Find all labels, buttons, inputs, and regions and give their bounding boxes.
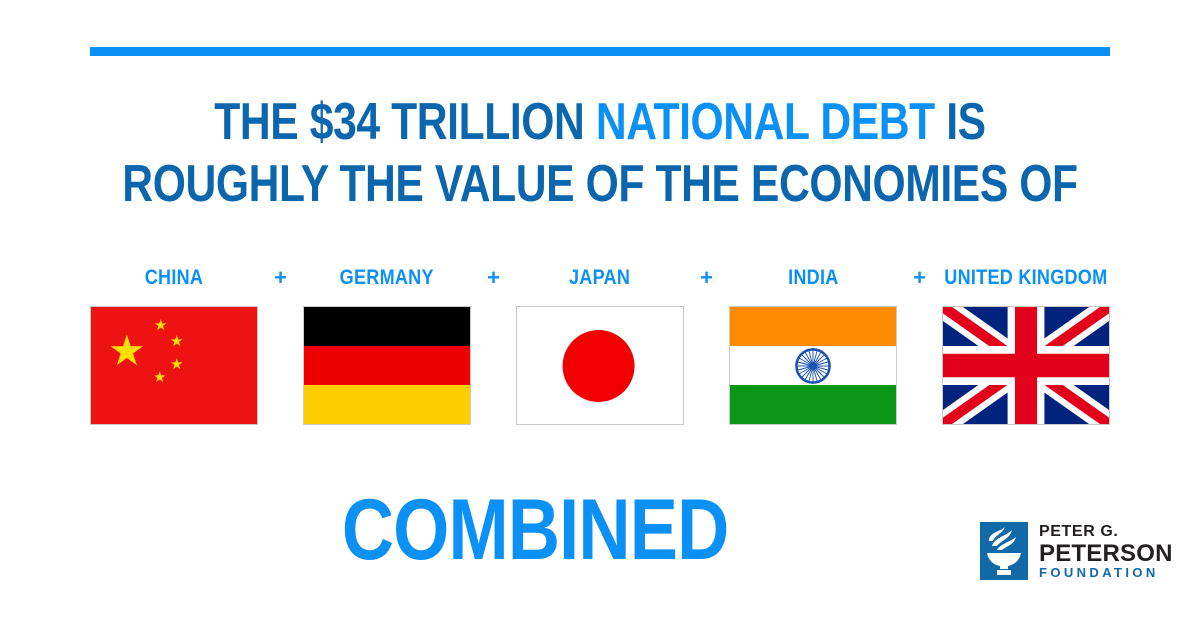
- logo-line-peter-g: PETER G.: [1039, 524, 1173, 541]
- flag-china-icon: ★ ★ ★ ★ ★: [90, 306, 258, 425]
- plus-separator-4: +: [897, 267, 942, 289]
- headline-highlight-national-debt: NATIONAL DEBT: [596, 93, 935, 151]
- flag-india-icon: [729, 306, 897, 425]
- germany-band-red: [304, 346, 470, 385]
- headline-block: THE $34 TRILLION NATIONAL DEBT IS ROUGHL…: [0, 96, 1200, 210]
- logo-line-peterson: PETERSON: [1039, 541, 1173, 566]
- logo-wordmark: PETER G. PETERSON FOUNDATION: [1039, 522, 1173, 581]
- torch-icon-artwork: [980, 522, 1028, 580]
- japan-sun-disc: [563, 330, 635, 402]
- flag-united-kingdom-icon: [942, 306, 1110, 425]
- country-label-cell-united-kingdom: UNITED KINGDOM: [942, 266, 1110, 290]
- country-label-india: INDIA: [788, 266, 838, 290]
- india-band-saffron: [730, 307, 896, 346]
- country-label-cell-china: CHINA: [90, 266, 258, 290]
- peterson-foundation-logo: PETER G. PETERSON FOUNDATION: [980, 522, 1176, 584]
- germany-band-black: [304, 307, 470, 346]
- flags-row: ★ ★ ★ ★ ★: [90, 306, 1110, 428]
- plus-separator-2: +: [471, 267, 516, 289]
- combined-word: COMBINED: [342, 487, 729, 573]
- country-label-germany: GERMANY: [340, 266, 434, 290]
- logo-line-foundation: FOUNDATION: [1039, 566, 1173, 581]
- country-label-cell-japan: JAPAN: [516, 266, 684, 290]
- flag-germany-icon: [303, 306, 471, 425]
- country-label-china: CHINA: [145, 266, 203, 290]
- top-accent-bar: [90, 47, 1110, 56]
- country-labels-row: CHINA + GERMANY + JAPAN + INDIA + UNITED…: [90, 264, 1110, 292]
- india-ashoka-chakra-icon: [795, 348, 831, 384]
- china-star-small-4: ★: [153, 370, 166, 385]
- china-star-large: ★: [108, 330, 146, 372]
- headline-line-1: THE $34 TRILLION NATIONAL DEBT IS: [108, 96, 1092, 148]
- headline-line-1-prefix: THE $34 TRILLION: [214, 93, 596, 151]
- torch-icon: [980, 522, 1028, 580]
- china-star-small-1: ★: [154, 318, 167, 333]
- headline-line-1-suffix: IS: [935, 93, 986, 151]
- flag-japan-icon: [516, 306, 684, 425]
- plus-separator-3: +: [684, 267, 729, 289]
- india-band-green: [730, 385, 896, 424]
- china-star-small-3: ★: [170, 357, 183, 372]
- union-jack-artwork: [943, 307, 1109, 424]
- china-star-small-2: ★: [170, 334, 183, 349]
- headline-line-2: ROUGHLY THE VALUE OF THE ECONOMIES OF: [108, 158, 1092, 210]
- country-label-japan: JAPAN: [569, 266, 630, 290]
- plus-separator-1: +: [258, 267, 303, 289]
- country-label-cell-germany: GERMANY: [303, 266, 471, 290]
- country-label-united-kingdom: UNITED KINGDOM: [944, 266, 1107, 290]
- country-label-cell-india: INDIA: [729, 266, 897, 290]
- infographic-canvas: THE $34 TRILLION NATIONAL DEBT IS ROUGHL…: [0, 0, 1200, 629]
